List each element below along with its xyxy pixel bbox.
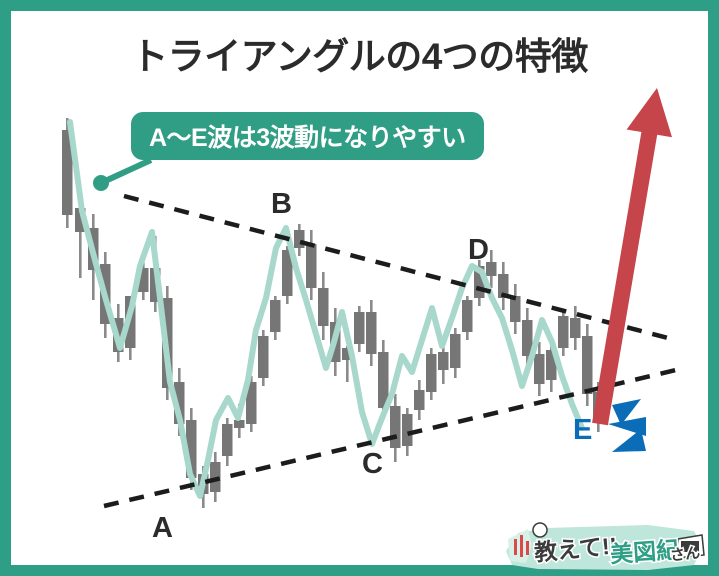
logo-candle-3 [526, 541, 529, 555]
wave-label-a: A [152, 512, 173, 545]
emphasis-mark [612, 429, 646, 452]
wave-label-b: B [271, 188, 292, 221]
trendline-upper-resistance [124, 196, 668, 338]
candle-body [366, 312, 377, 354]
page-title: トライアングルの4つの特徴 [0, 26, 719, 80]
candle-body [450, 334, 461, 368]
candle-body [414, 390, 425, 410]
callout-text: A〜E波は3波動になりやすい [149, 118, 466, 154]
logo-text-suffix: さん [669, 541, 701, 565]
candlestick-chart [0, 0, 719, 576]
candle-body [318, 288, 329, 326]
logo-candle-2 [520, 535, 523, 557]
candle-body [534, 354, 545, 384]
logo-text-primary: 教えて!! [533, 526, 619, 567]
logo-candle-1 [514, 539, 517, 555]
candle-body [390, 406, 401, 448]
candle-body [270, 300, 281, 332]
breakout-arrow-shape [592, 88, 672, 425]
candle-body [426, 354, 437, 392]
candle-body [558, 316, 569, 348]
infographic-root: トライアングルの4つの特徴 A〜E波は3波動になりやすい A B C D E 教… [0, 0, 719, 576]
candle-body [258, 336, 269, 378]
candle-body [402, 414, 413, 446]
callout-bubble: A〜E波は3波動になりやすい [131, 112, 484, 160]
candle-body [582, 336, 593, 394]
candle-body [306, 244, 317, 288]
breakout-emphasis-marks [608, 399, 646, 452]
candle-body [570, 318, 581, 338]
wave-label-c: C [362, 448, 383, 481]
wave-label-d: D [468, 234, 489, 267]
candle-body [222, 424, 233, 456]
bullish-breakout-arrow [592, 88, 672, 425]
brand-logo: 教えて!! 美図紀 さん [498, 521, 711, 573]
candle-body [438, 352, 449, 370]
candle-body [462, 300, 473, 332]
wave-label-e: E [573, 414, 592, 447]
candle-body [294, 230, 305, 248]
candle-body [354, 312, 365, 344]
candle-body [234, 420, 245, 428]
